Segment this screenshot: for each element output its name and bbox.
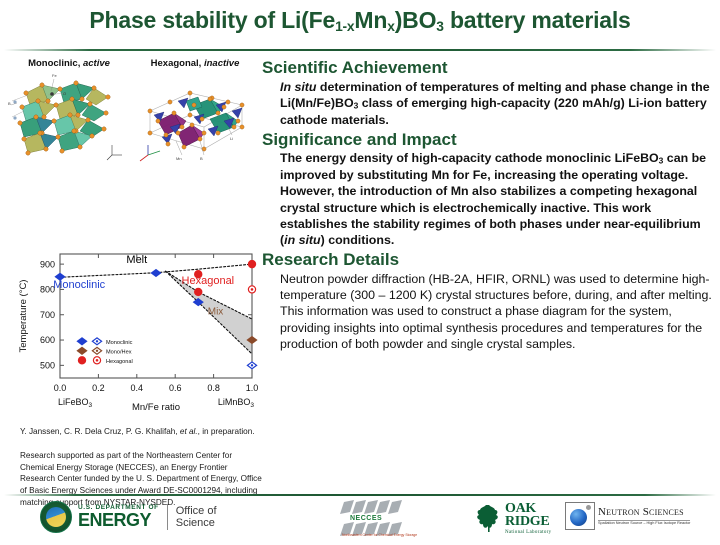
legend-label-2: Hexagonal	[106, 359, 133, 365]
legend-label-1: Mono/Hex	[106, 349, 132, 355]
legend-marker-open-1-center	[96, 350, 98, 352]
axes-gizmo	[107, 145, 122, 160]
legend-marker-filled-0	[77, 338, 86, 345]
label-Fe: Fe	[52, 73, 57, 78]
y-axis-label: Temperature (°C)	[18, 280, 29, 353]
section-research-details: Research Details Neutron powder diffract…	[262, 250, 714, 352]
x-tick-label: 1.0	[246, 383, 259, 393]
label-B: B	[8, 101, 11, 106]
data-point-hexagonal-center	[251, 288, 254, 291]
label-O: O	[63, 91, 66, 96]
monoclinic-structure: Monoclinic, active	[8, 58, 130, 163]
legend-marker-filled-1	[77, 347, 86, 354]
data-point-hexagonal	[195, 288, 202, 295]
monoclinic-caption: Monoclinic, active	[8, 58, 130, 69]
section-heading: Significance and Impact	[262, 130, 714, 150]
x-tick-label: 0.0	[54, 383, 67, 393]
doe-logo: U.S. DEPARTMENT OF ENERGY Office of Scie…	[40, 501, 217, 533]
x-endpoint-left: LiFeBO3	[58, 397, 93, 409]
legend-marker-filled-2	[78, 357, 85, 364]
ornl-ridge-label: RIDGE	[505, 515, 551, 528]
x-tick-label: 0.6	[169, 383, 182, 393]
doe-energy-label: ENERGY	[78, 512, 159, 529]
necces-tagline: Northeastern Center for Chemical Energy …	[342, 533, 417, 537]
x-endpoint-right: LiMnBO3	[218, 397, 255, 409]
ornl-oak-label: OAK	[505, 502, 551, 515]
label-B: B	[200, 156, 203, 161]
right-column: Scientific Achievement In situ determina…	[262, 58, 714, 354]
section-body: The energy density of high-capacity cath…	[262, 150, 714, 248]
crystal-structure-row: Monoclinic, active	[8, 58, 258, 163]
hexagonal-structure-image: Mn B Li	[134, 71, 256, 163]
page-title: Phase stability of Li(Fe1-xMnx)BO3 batte…	[0, 8, 720, 34]
section-significance-and-impact: Significance and Impact The energy densi…	[262, 130, 714, 249]
data-point-monoclinic	[151, 270, 160, 277]
y-tick-label: 500	[40, 361, 55, 371]
necces-name: NECCES	[350, 515, 382, 522]
hexagonal-structure: Hexagonal, inactive	[134, 58, 256, 163]
region-label-melt: Melt	[126, 254, 147, 266]
ornl-logo: OAK RIDGE National Laboratory	[476, 502, 551, 535]
section-scientific-achievement: Scientific Achievement In situ determina…	[262, 58, 714, 128]
x-tick-label: 0.8	[207, 383, 220, 393]
monoclinic-structure-image: Fe B O	[8, 71, 130, 163]
region-label-hexagonal: Hexagonal	[182, 275, 235, 287]
data-point-monoclinic-center	[251, 364, 253, 366]
label-Mn: Mn	[176, 156, 182, 161]
monoclinic-polyhedra-svg: Fe B O	[8, 71, 130, 163]
section-heading: Scientific Achievement	[262, 58, 714, 78]
section-body: In situ determination of temperatures of…	[262, 79, 714, 128]
data-point-hexagonal	[248, 261, 255, 268]
data-point-hexagonal	[195, 271, 202, 278]
y-tick-label: 700	[40, 310, 55, 320]
label-Li: Li	[230, 136, 233, 141]
x-axis-label: Mn/Fe ratio	[132, 402, 180, 413]
necces-logo: NECCES Northeastern Center for Chemical …	[340, 500, 410, 538]
neutron-sciences-logo: Neutron Sciences Spallation Neutron Sour…	[565, 502, 690, 530]
doe-divider	[167, 504, 168, 530]
hexagonal-caption: Hexagonal, inactive	[134, 58, 256, 69]
doe-seal-icon	[40, 501, 72, 533]
page-title-text: Phase stability of Li(Fe1-xMnx)BO3 batte…	[0, 8, 720, 34]
y-tick-label: 900	[40, 259, 55, 269]
footer: U.S. DEPARTMENT OF ENERGY Office of Scie…	[0, 497, 720, 540]
neutron-sciences-subtitle: Spallation Neutron Source – High Flux Is…	[598, 520, 690, 526]
footer-divider	[4, 494, 716, 496]
doe-office-label: Office of Science	[176, 505, 217, 530]
oak-leaf-icon	[476, 503, 502, 533]
region-label-monoclinic: Monoclinic	[53, 279, 105, 291]
section-body: Neutron powder diffraction (HB-2A, HFIR,…	[262, 271, 714, 352]
region-label-mix: Mix	[208, 307, 224, 318]
legend-marker-open-0-center	[96, 340, 98, 342]
left-column: Monoclinic, active	[8, 58, 258, 163]
x-tick-label: 0.2	[92, 383, 105, 393]
title-divider	[4, 49, 716, 51]
citation: Y. Janssen, C. R. Dela Cruz, P. G. Khali…	[20, 426, 263, 437]
section-heading: Research Details	[262, 250, 714, 270]
legend-marker-open-2-center	[96, 359, 99, 362]
neutron-sciences-title: Neutron Sciences	[598, 507, 690, 518]
hexagonal-polyhedra-svg: Mn B Li	[134, 71, 256, 163]
y-tick-label: 600	[40, 335, 55, 345]
x-tick-label: 0.4	[131, 383, 144, 393]
phase-diagram-chart: 0.00.20.40.60.81.0500600700800900Mn/Fe r…	[14, 240, 270, 418]
ornl-lab-label: National Laboratory	[505, 530, 551, 535]
axes-gizmo	[140, 145, 160, 161]
legend-label-0: Monoclinic	[106, 340, 133, 346]
neutron-sphere-icon	[565, 502, 595, 530]
phase-diagram-svg: 0.00.20.40.60.81.0500600700800900Mn/Fe r…	[14, 240, 270, 418]
